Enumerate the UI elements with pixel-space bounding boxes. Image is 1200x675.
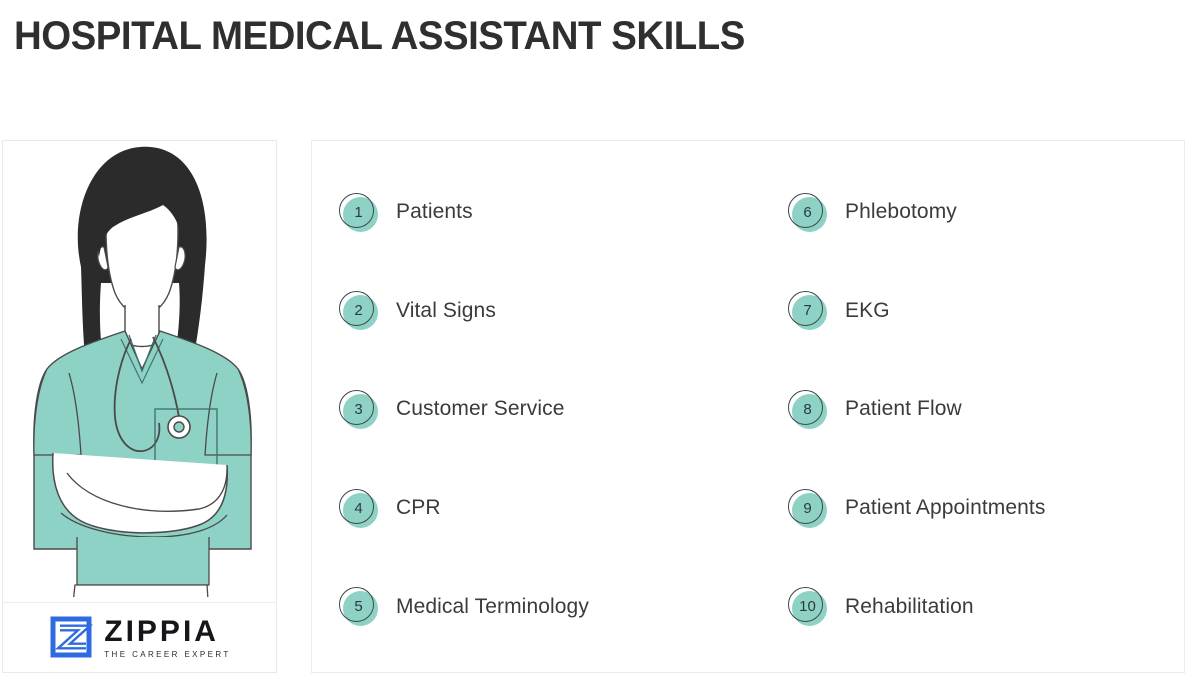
badge-number: 10	[799, 598, 816, 615]
skill-label: Patient Appointments	[845, 496, 1045, 520]
skill-number-badge: 7	[788, 291, 827, 330]
skill-item-5[interactable]: 5 Medical Terminology	[312, 557, 748, 656]
skill-label: Vital Signs	[396, 299, 496, 323]
skills-list: 1 Patients 6 Phlebotomy 2 Vital Signs	[312, 141, 1184, 672]
skill-item-2[interactable]: 2 Vital Signs	[312, 262, 748, 361]
badge-ring-circle: 1	[339, 193, 374, 228]
skill-item-8[interactable]: 8 Patient Flow	[748, 360, 1184, 459]
skill-number-badge: 10	[788, 587, 827, 626]
skill-number-badge: 6	[788, 193, 827, 232]
pants-shape	[67, 585, 210, 597]
badge-ring-circle: 10	[788, 587, 823, 622]
stethoscope-chestpiece-inner	[174, 422, 184, 432]
badge-number: 1	[354, 204, 362, 221]
skill-label: Medical Terminology	[396, 595, 589, 619]
skill-number-badge: 2	[339, 291, 378, 330]
skill-number-badge: 9	[788, 489, 827, 528]
skill-item-1[interactable]: 1 Patients	[312, 163, 748, 262]
badge-number: 9	[803, 500, 811, 517]
skill-label: CPR	[396, 496, 441, 520]
badge-ring-circle: 4	[339, 489, 374, 524]
badge-ring-circle: 9	[788, 489, 823, 524]
skill-number-badge: 5	[339, 587, 378, 626]
skill-item-7[interactable]: 7 EKG	[748, 262, 1184, 361]
skill-label: Rehabilitation	[845, 595, 974, 619]
badge-number: 4	[354, 500, 362, 517]
skill-item-6[interactable]: 6 Phlebotomy	[748, 163, 1184, 262]
badge-number: 7	[803, 302, 811, 319]
badge-ring-circle: 8	[788, 390, 823, 425]
illustration-card: ZIPPIA THE CAREER EXPERT	[2, 140, 277, 673]
skill-item-3[interactable]: 3 Customer Service	[312, 360, 748, 459]
skill-label: Patient Flow	[845, 397, 962, 421]
skill-number-badge: 4	[339, 489, 378, 528]
page-title: HOSPITAL MEDICAL ASSISTANT SKILLS	[14, 14, 745, 58]
zippia-tagline: THE CAREER EXPERT	[104, 651, 230, 659]
skill-label: Patients	[396, 200, 473, 224]
badge-ring-circle: 3	[339, 390, 374, 425]
badge-ring-circle: 6	[788, 193, 823, 228]
skill-label: Phlebotomy	[845, 200, 957, 224]
badge-ring-circle: 5	[339, 587, 374, 622]
badge-number: 8	[803, 401, 811, 418]
skill-number-badge: 1	[339, 193, 378, 232]
skill-label: Customer Service	[396, 397, 564, 421]
skill-number-badge: 3	[339, 390, 378, 429]
skill-item-9[interactable]: 9 Patient Appointments	[748, 459, 1184, 558]
skills-card: 1 Patients 6 Phlebotomy 2 Vital Signs	[311, 140, 1185, 673]
scrubs-hem-shape	[77, 537, 209, 585]
badge-number: 2	[354, 302, 362, 319]
medical-assistant-illustration	[3, 140, 277, 597]
skill-label: EKG	[845, 299, 890, 323]
badge-number: 3	[354, 401, 362, 418]
skill-item-10[interactable]: 10 Rehabilitation	[748, 557, 1184, 656]
badge-number: 5	[354, 598, 362, 615]
skill-number-badge: 8	[788, 390, 827, 429]
zippia-wordmark: ZIPPIA	[104, 617, 219, 647]
zippia-logo: ZIPPIA THE CAREER EXPERT	[3, 602, 277, 672]
zippia-z-mark-icon	[50, 616, 94, 660]
badge-number: 6	[803, 204, 811, 221]
skill-item-4[interactable]: 4 CPR	[312, 459, 748, 558]
